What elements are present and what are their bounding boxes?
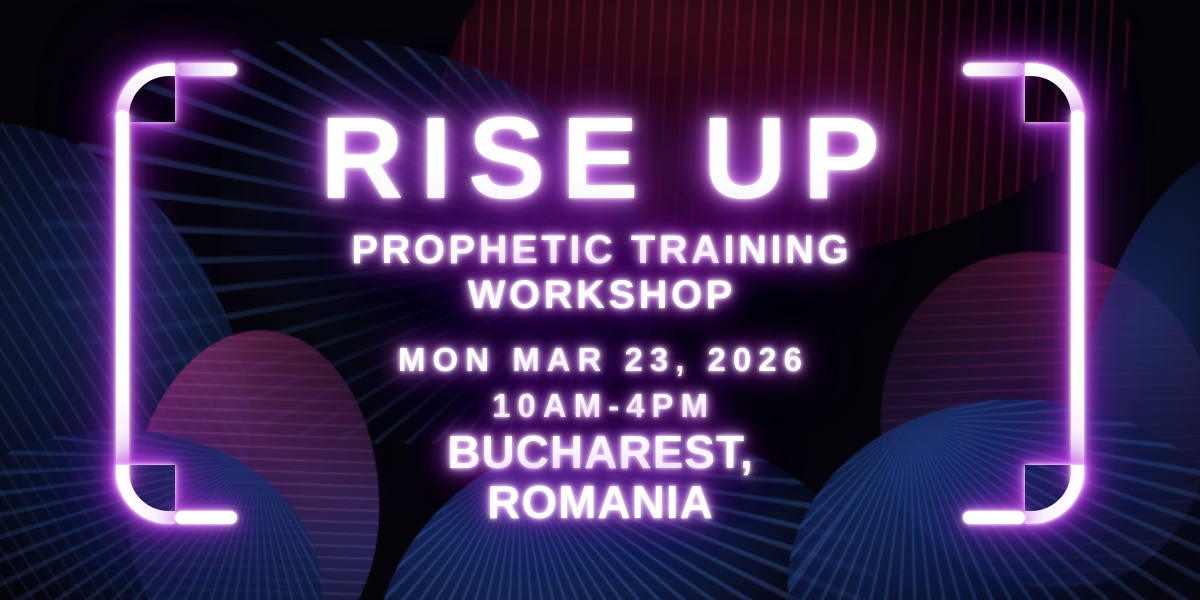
event-subtitle-line-2: WORKSHOP	[0, 273, 1200, 318]
event-date-line: MON MAR 23, 2026	[0, 337, 1200, 383]
event-subtitle-line-1: PROPHETIC TRAINING	[0, 228, 1200, 273]
event-location: BUCHAREST, ROMANIA	[0, 428, 1200, 527]
event-date: MON MAR 23, 2026 10AM-4PM	[0, 337, 1200, 428]
event-banner: RISE UP PROPHETIC TRAINING WORKSHOP MON …	[0, 0, 1200, 600]
event-location-country: ROMANIA	[0, 478, 1200, 528]
event-location-city: BUCHAREST,	[0, 428, 1200, 478]
event-title: RISE UP	[0, 100, 1200, 216]
event-time-line: 10AM-4PM	[0, 383, 1200, 429]
event-subtitle: PROPHETIC TRAINING WORKSHOP	[0, 228, 1200, 318]
